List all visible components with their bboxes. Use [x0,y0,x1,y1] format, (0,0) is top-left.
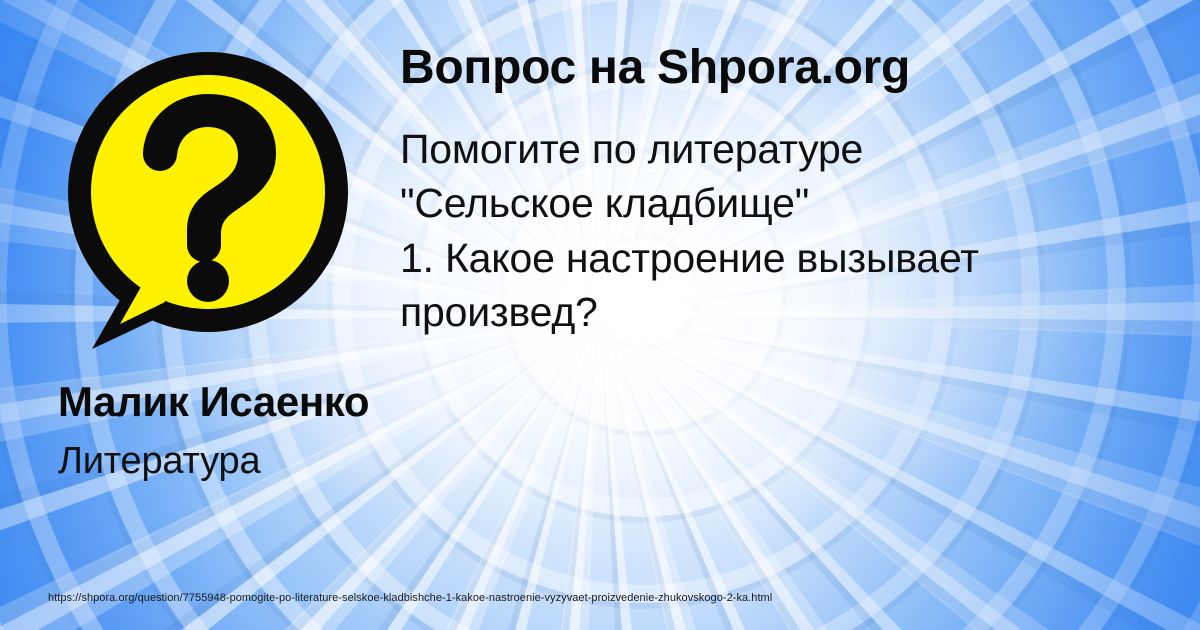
source-url[interactable]: https://shpora.org/question/7755948-pomo… [48,592,772,604]
author-name: Малик Исаенко [58,378,388,425]
question-content: Вопрос на Shpora.org Помогите по литерат… [400,42,1190,340]
page-title: Вопрос на Shpora.org [400,42,1190,94]
share-card: Вопрос на Shpora.org Помогите по литерат… [0,0,1200,630]
question-body-text: Помогите по литературе "Сельское кладбищ… [400,122,1190,340]
question-category: Литература [58,441,388,483]
author-block: Малик Исаенко Литература [58,378,388,483]
question-mark-speech-bubble-icon [58,50,358,350]
